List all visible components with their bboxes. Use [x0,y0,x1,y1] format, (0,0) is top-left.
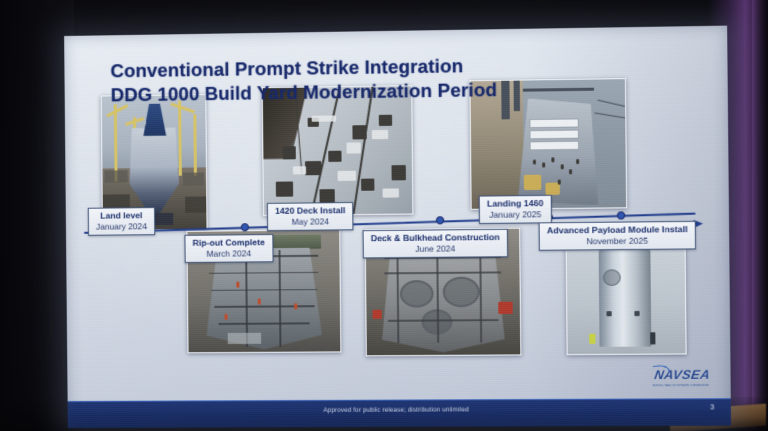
caption-date: May 2024 [275,216,345,227]
caption-date: March 2024 [193,248,265,259]
caption-date: June 2024 [371,243,500,255]
title-line-2: DDG 1000 Build Yard Modernization Period [111,78,498,107]
timeline-node-rip-out [241,223,249,231]
caption-title: Land level [96,210,147,221]
footer-bar: Approved for public release; distributio… [68,399,731,428]
conference-room-projection-scene: Conventional Prompt Strike Integration D… [0,0,768,431]
milestone-caption-deck-bulkhead[interactable]: Deck & Bulkhead Construction June 2024 [363,229,509,259]
caption-title: Landing 1460 [487,198,544,209]
presentation-slide: Conventional Prompt Strike Integration D… [64,26,731,428]
slide-title: Conventional Prompt Strike Integration D… [110,54,497,107]
caption-title: Advanced Payload Module Install [547,224,688,236]
deck-install-photo [262,85,414,216]
milestone-caption-rip-out[interactable]: Rip-out Complete March 2024 [184,234,273,263]
caption-title: 1420 Deck Install [275,205,345,217]
caption-date: January 2024 [96,221,147,232]
projected-slide-surface: Conventional Prompt Strike Integration D… [64,26,731,428]
distribution-statement: Approved for public release; distributio… [68,405,731,415]
timeline-node-payload-module [617,211,625,219]
caption-title: Deck & Bulkhead Construction [371,232,500,244]
navsea-logo: NAVSEA NAVAL SEA SYSTEMS COMMAND [652,368,711,388]
page-number: 3 [710,404,714,411]
room-wall-left [0,0,74,431]
navsea-subtitle: NAVAL SEA SYSTEMS COMMAND [652,383,708,387]
milestone-caption-land-level[interactable]: Land level January 2024 [88,207,155,236]
milestone-caption-landing-1460[interactable]: Landing 1460 January 2025 [479,195,552,224]
caption-title: Rip-out Complete [193,237,265,248]
timeline-node-deck-bulkhead [436,217,444,225]
caption-date: January 2025 [487,209,544,220]
milestone-caption-payload-module[interactable]: Advanced Payload Module Install November… [539,221,697,251]
caption-date: November 2025 [547,235,688,247]
room-wall-right-edge [752,0,768,431]
milestone-caption-deck-install[interactable]: 1420 Deck Install May 2024 [267,202,354,231]
